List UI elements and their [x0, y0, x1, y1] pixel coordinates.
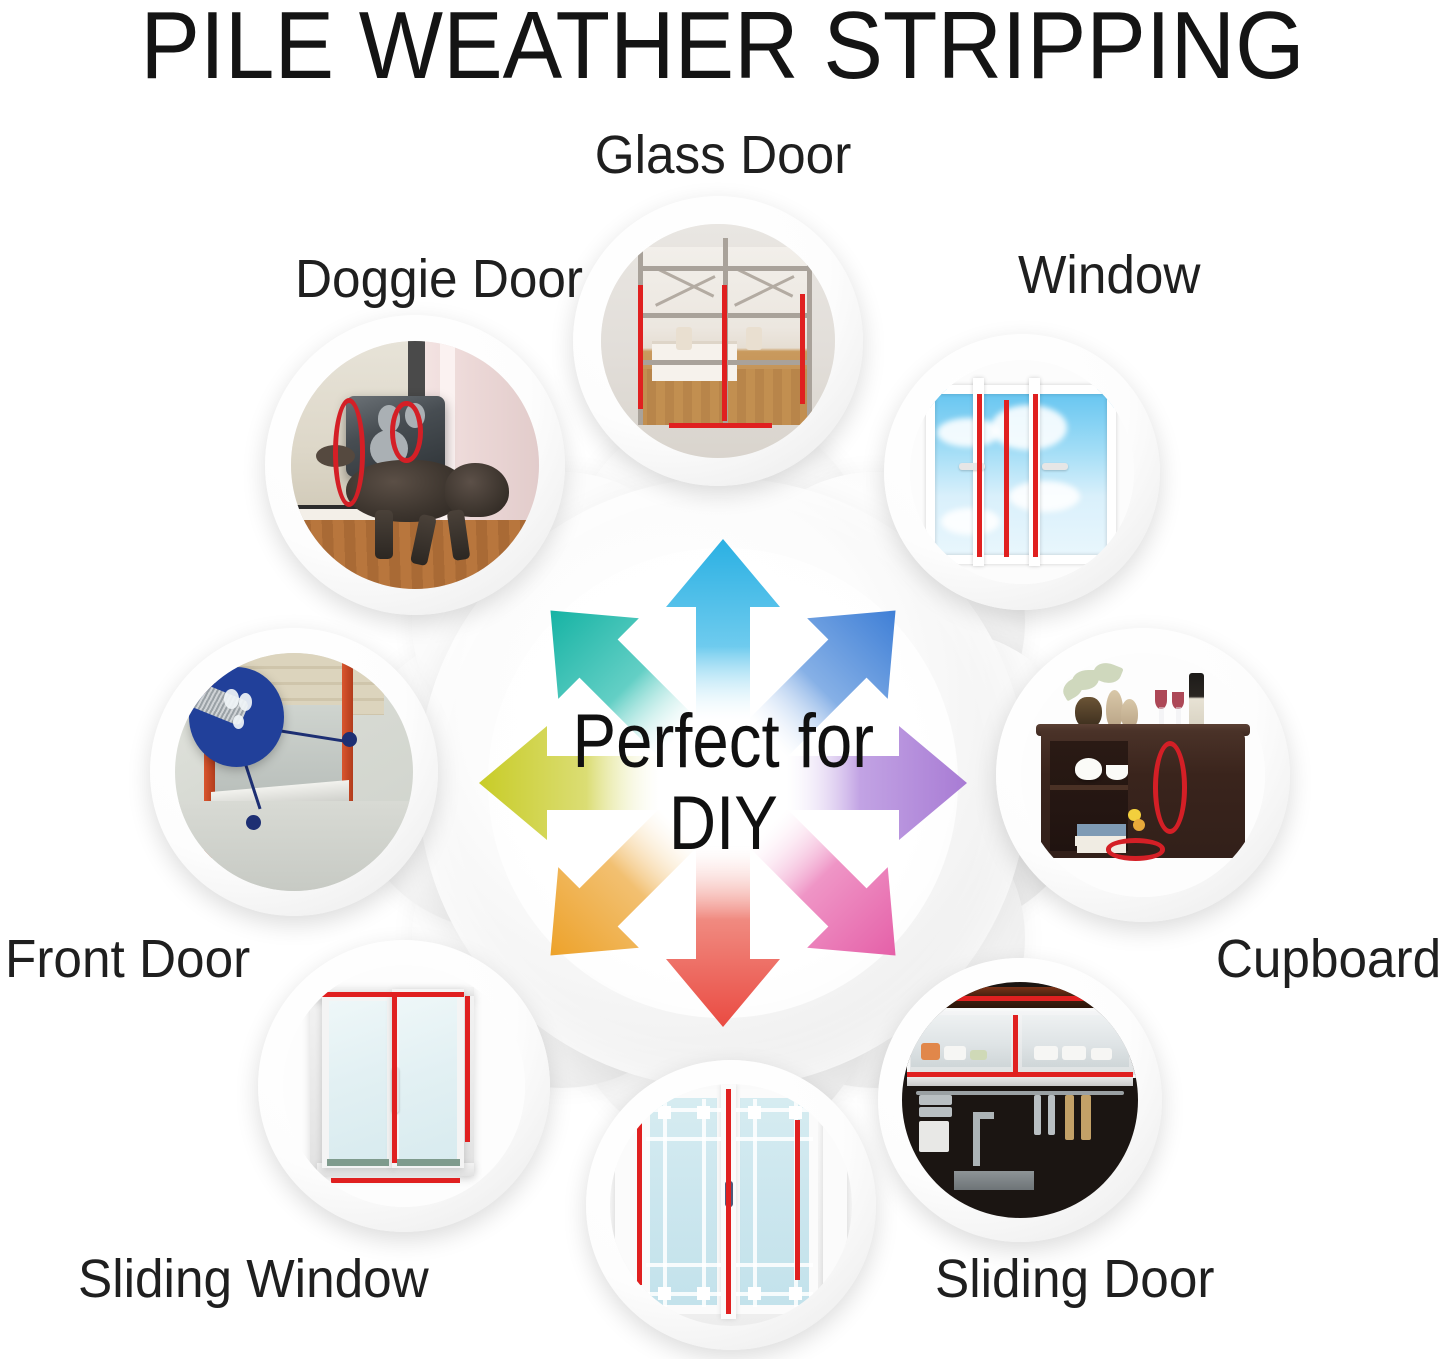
label-front-door: Front Door — [5, 932, 250, 986]
red-line — [465, 996, 470, 1141]
label-doggie-door: Doggie Door — [295, 252, 583, 306]
page-title: PILE WEATHER STRIPPING — [51, 0, 1395, 96]
red-line — [314, 992, 464, 997]
red-line — [1033, 394, 1038, 558]
callout-dot — [342, 732, 357, 747]
red-line — [916, 996, 1124, 1001]
red-line — [637, 1115, 642, 1284]
cupboard-photo — [1021, 653, 1265, 897]
red-line — [800, 294, 805, 404]
label-sliding-window: Sliding Window — [78, 1252, 429, 1306]
center-line-2: DIY — [669, 786, 778, 862]
red-line — [726, 1089, 731, 1314]
red-line — [392, 994, 397, 1163]
red-line — [331, 1178, 459, 1183]
red-line — [977, 394, 982, 558]
red-line — [722, 285, 727, 421]
doggie-door-photo — [291, 341, 539, 589]
bubble-french-door[interactable] — [586, 1060, 876, 1350]
bubble-glass-door[interactable] — [573, 196, 863, 486]
bubble-cupboard[interactable] — [996, 628, 1290, 922]
doggie-door-scene — [291, 341, 539, 589]
bubble-window[interactable] — [884, 334, 1160, 610]
sliding-door-photo — [902, 982, 1138, 1218]
bubble-sliding-window[interactable] — [258, 940, 550, 1232]
center-line-1: Perfect for — [572, 704, 873, 780]
french-door-photo — [610, 1084, 852, 1326]
red-line — [1013, 1015, 1018, 1074]
label-window: Window — [1018, 248, 1200, 302]
red-line — [907, 1072, 1134, 1077]
bubble-doggie-door[interactable] — [265, 315, 565, 615]
french-door-scene — [610, 1084, 852, 1326]
red-ellipse — [390, 401, 422, 463]
sliding-window-photo — [283, 965, 525, 1207]
sliding-door-scene — [902, 982, 1138, 1218]
window-scene — [910, 360, 1134, 584]
red-line — [1004, 400, 1009, 557]
red-ellipse — [1106, 838, 1165, 860]
cupboard-scene — [1021, 653, 1265, 897]
red-line — [795, 1120, 800, 1280]
red-ellipse — [1153, 741, 1187, 834]
front-door-photo — [175, 653, 413, 891]
red-line — [669, 423, 772, 428]
label-sliding-door: Sliding Door — [935, 1252, 1214, 1306]
front-door-scene — [175, 653, 413, 891]
bubble-front-door[interactable] — [150, 628, 438, 916]
bubble-sliding-door[interactable] — [878, 958, 1162, 1242]
blue-zoom-callout — [189, 667, 284, 767]
label-glass-door: Glass Door — [595, 128, 852, 182]
red-line — [638, 285, 643, 409]
glass-door-scene — [601, 224, 835, 458]
label-cupboard: Cupboard — [1216, 932, 1441, 986]
window-photo — [910, 360, 1134, 584]
sliding-window-scene — [283, 965, 525, 1207]
glass-door-photo — [601, 224, 835, 458]
